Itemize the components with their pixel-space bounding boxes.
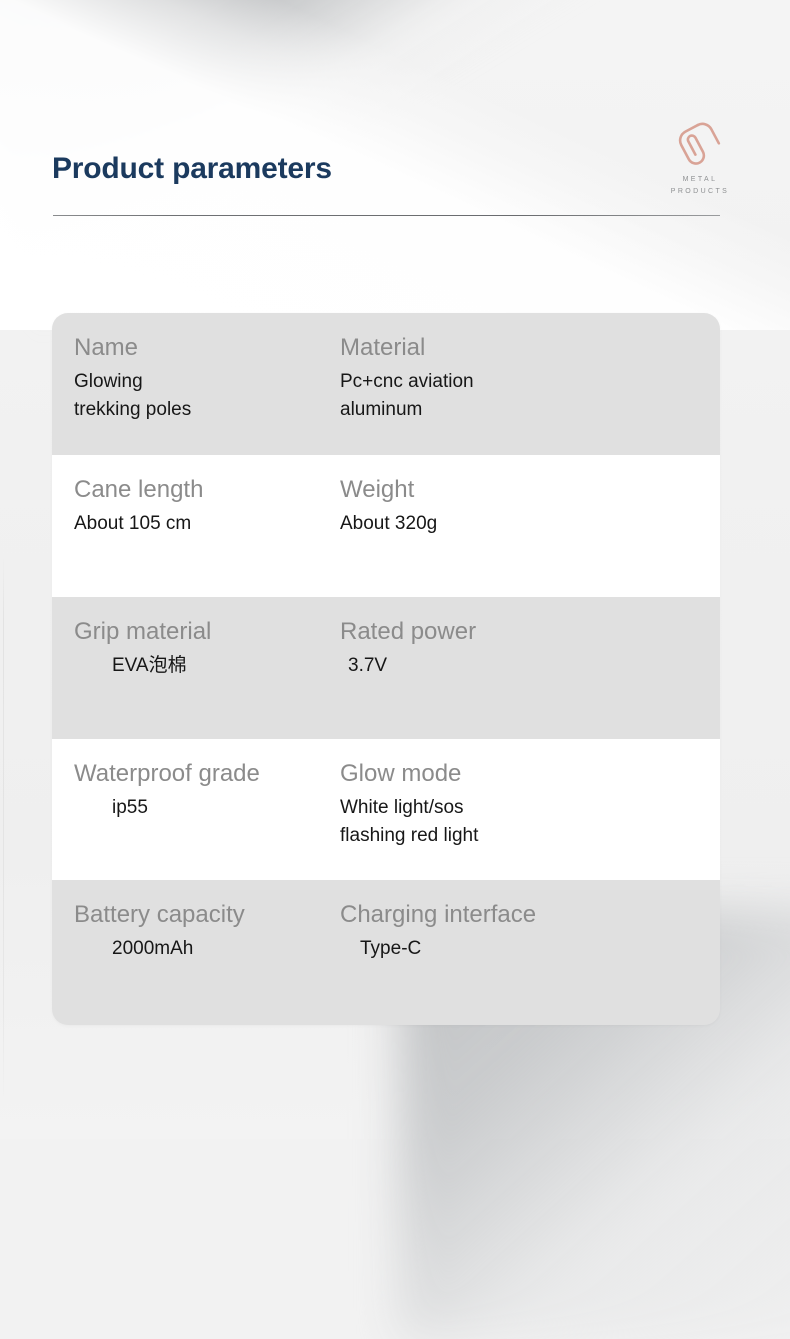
page-title: Product parameters [52,152,332,186]
spec-cell-rated-power: Rated power 3.7V [340,617,674,719]
spec-cell-charging-interface: Charging interface Type-C [340,900,674,1005]
table-row: Waterproof grade ip55 Glow mode White li… [52,739,720,880]
spec-cell-name: Name Glowingtrekking poles [52,333,386,435]
brand-line-2: PRODUCTS [652,186,748,198]
paperclip-icon [652,116,748,168]
brand-logo: METAL PRODUCTS [652,116,748,198]
title-divider [53,215,720,216]
spec-cell-glow-mode: Glow mode White light/sosflashing red li… [340,759,674,860]
spec-value: 3.7V [340,652,674,680]
spec-cell-battery-capacity: Battery capacity 2000mAh [52,900,386,1005]
spec-label: Charging interface [340,900,674,930]
table-row: Name Glowingtrekking poles Material Pc+c… [52,313,720,455]
spec-cell-waterproof-grade: Waterproof grade ip55 [52,759,386,860]
spec-table: Name Glowingtrekking poles Material Pc+c… [52,313,720,1025]
spec-cell-material: Material Pc+cnc aviationaluminum [340,333,674,435]
table-row: Cane length About 105 cm Weight About 32… [52,455,720,597]
brand-line-1: METAL [652,174,748,186]
page-header: Product parameters METAL PRODUCTS [0,0,790,240]
spec-cell-cane-length: Cane length About 105 cm [52,475,386,577]
spec-label: Rated power [340,617,674,647]
table-row: Battery capacity 2000mAh Charging interf… [52,880,720,1025]
spec-label: Glow mode [340,759,674,789]
brand-text: METAL PRODUCTS [652,174,748,198]
table-row: Grip material EVA泡棉 Rated power 3.7V [52,597,720,739]
spec-cell-weight: Weight About 320g [340,475,674,577]
spec-label: Weight [340,475,674,505]
spec-label: Material [340,333,674,363]
product-parameters-page: Product parameters METAL PRODUCTS Name G… [0,0,790,1139]
spec-value: White light/sosflashing red light [340,794,674,850]
spec-value: Type-C [340,935,674,963]
spec-value: Pc+cnc aviationaluminum [340,368,674,424]
spec-cell-grip-material: Grip material EVA泡棉 [52,617,386,719]
spec-value: About 320g [340,510,674,538]
